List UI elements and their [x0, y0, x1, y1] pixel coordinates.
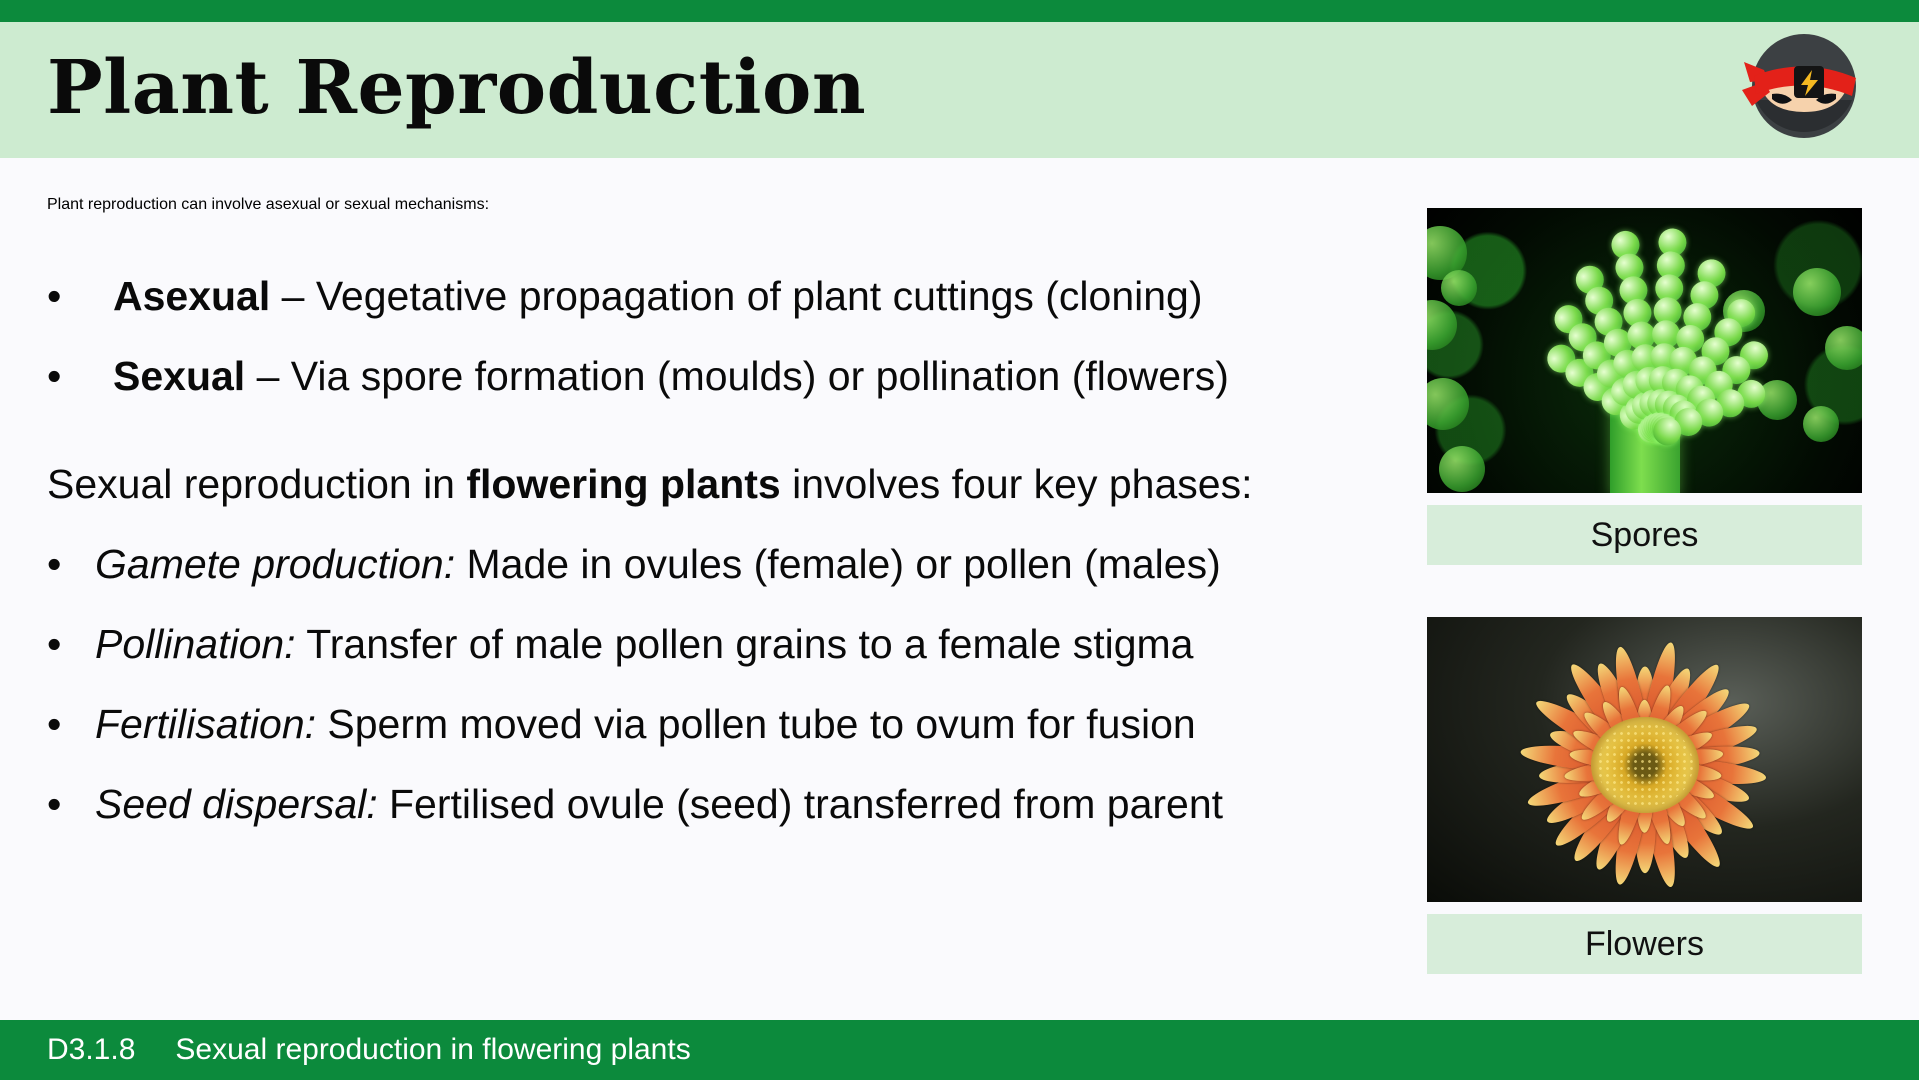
bullet-term: Asexual — [113, 273, 270, 319]
lead2-emphasis: flowering plants — [466, 461, 780, 507]
footer-bar: D3.1.8 Sexual reproduction in flowering … — [0, 1020, 1919, 1080]
bullet-marker: • — [47, 540, 61, 588]
lead-paragraph-2: Sexual reproduction in flowering plants … — [47, 460, 1252, 508]
page-title: Plant Reproduction — [47, 40, 866, 136]
bullet-term: Sexual — [113, 353, 245, 399]
bullet-marker: • — [47, 352, 61, 400]
spores-micrograph-image — [1427, 208, 1862, 493]
bullet-marker: • — [47, 620, 61, 668]
bullet-fertilisation: • Fertilisation: Sperm moved via pollen … — [47, 700, 1196, 748]
bullet-sexual: • Sexual – Via spore formation (moulds) … — [47, 352, 1229, 400]
bullet-body: – Via spore formation (moulds) or pollin… — [245, 353, 1229, 399]
footer-subtitle: Sexual reproduction in flowering plants — [175, 1033, 690, 1067]
bullet-term: Seed dispersal: — [95, 781, 378, 827]
lead2-post: involves four key phases: — [781, 461, 1253, 507]
bullet-term: Gamete production: — [95, 541, 455, 587]
flowers-figure: Flowers — [1427, 617, 1862, 974]
bullet-asexual: • Asexual – Vegetative propagation of pl… — [47, 272, 1203, 320]
bullet-term: Fertilisation: — [95, 701, 316, 747]
footer-code: D3.1.8 — [47, 1033, 135, 1067]
flowers-caption: Flowers — [1427, 914, 1862, 974]
bullet-seed-dispersal: • Seed dispersal: Fertilised ovule (seed… — [47, 780, 1223, 828]
bullet-marker: • — [47, 272, 61, 320]
top-accent-bar — [0, 0, 1919, 22]
lead-paragraph: Plant reproduction can involve asexual o… — [47, 196, 489, 214]
bullet-term: Pollination: — [95, 621, 296, 667]
bullet-body: Made in ovules (female) or pollen (males… — [455, 541, 1221, 587]
lead2-pre: Sexual reproduction in — [47, 461, 466, 507]
bullet-body: Sperm moved via pollen tube to ovum for … — [316, 701, 1196, 747]
bullet-body: Transfer of male pollen grains to a fema… — [296, 621, 1194, 667]
bullet-marker: • — [47, 700, 61, 748]
bullet-marker: • — [47, 780, 61, 828]
ninja-logo — [1742, 26, 1862, 146]
spores-caption: Spores — [1427, 505, 1862, 565]
bullet-pollination: • Pollination: Transfer of male pollen g… — [47, 620, 1193, 668]
bullet-body: – Vegetative propagation of plant cuttin… — [270, 273, 1202, 319]
slide: Plant Reproduction Plant rep — [0, 0, 1919, 1080]
spores-figure: Spores — [1427, 208, 1862, 565]
bullet-gamete-production: • Gamete production: Made in ovules (fem… — [47, 540, 1221, 588]
gerbera-flower-image — [1427, 617, 1862, 902]
flower-centre-disc — [1591, 717, 1699, 813]
bullet-body: Fertilised ovule (seed) transferred from… — [378, 781, 1223, 827]
